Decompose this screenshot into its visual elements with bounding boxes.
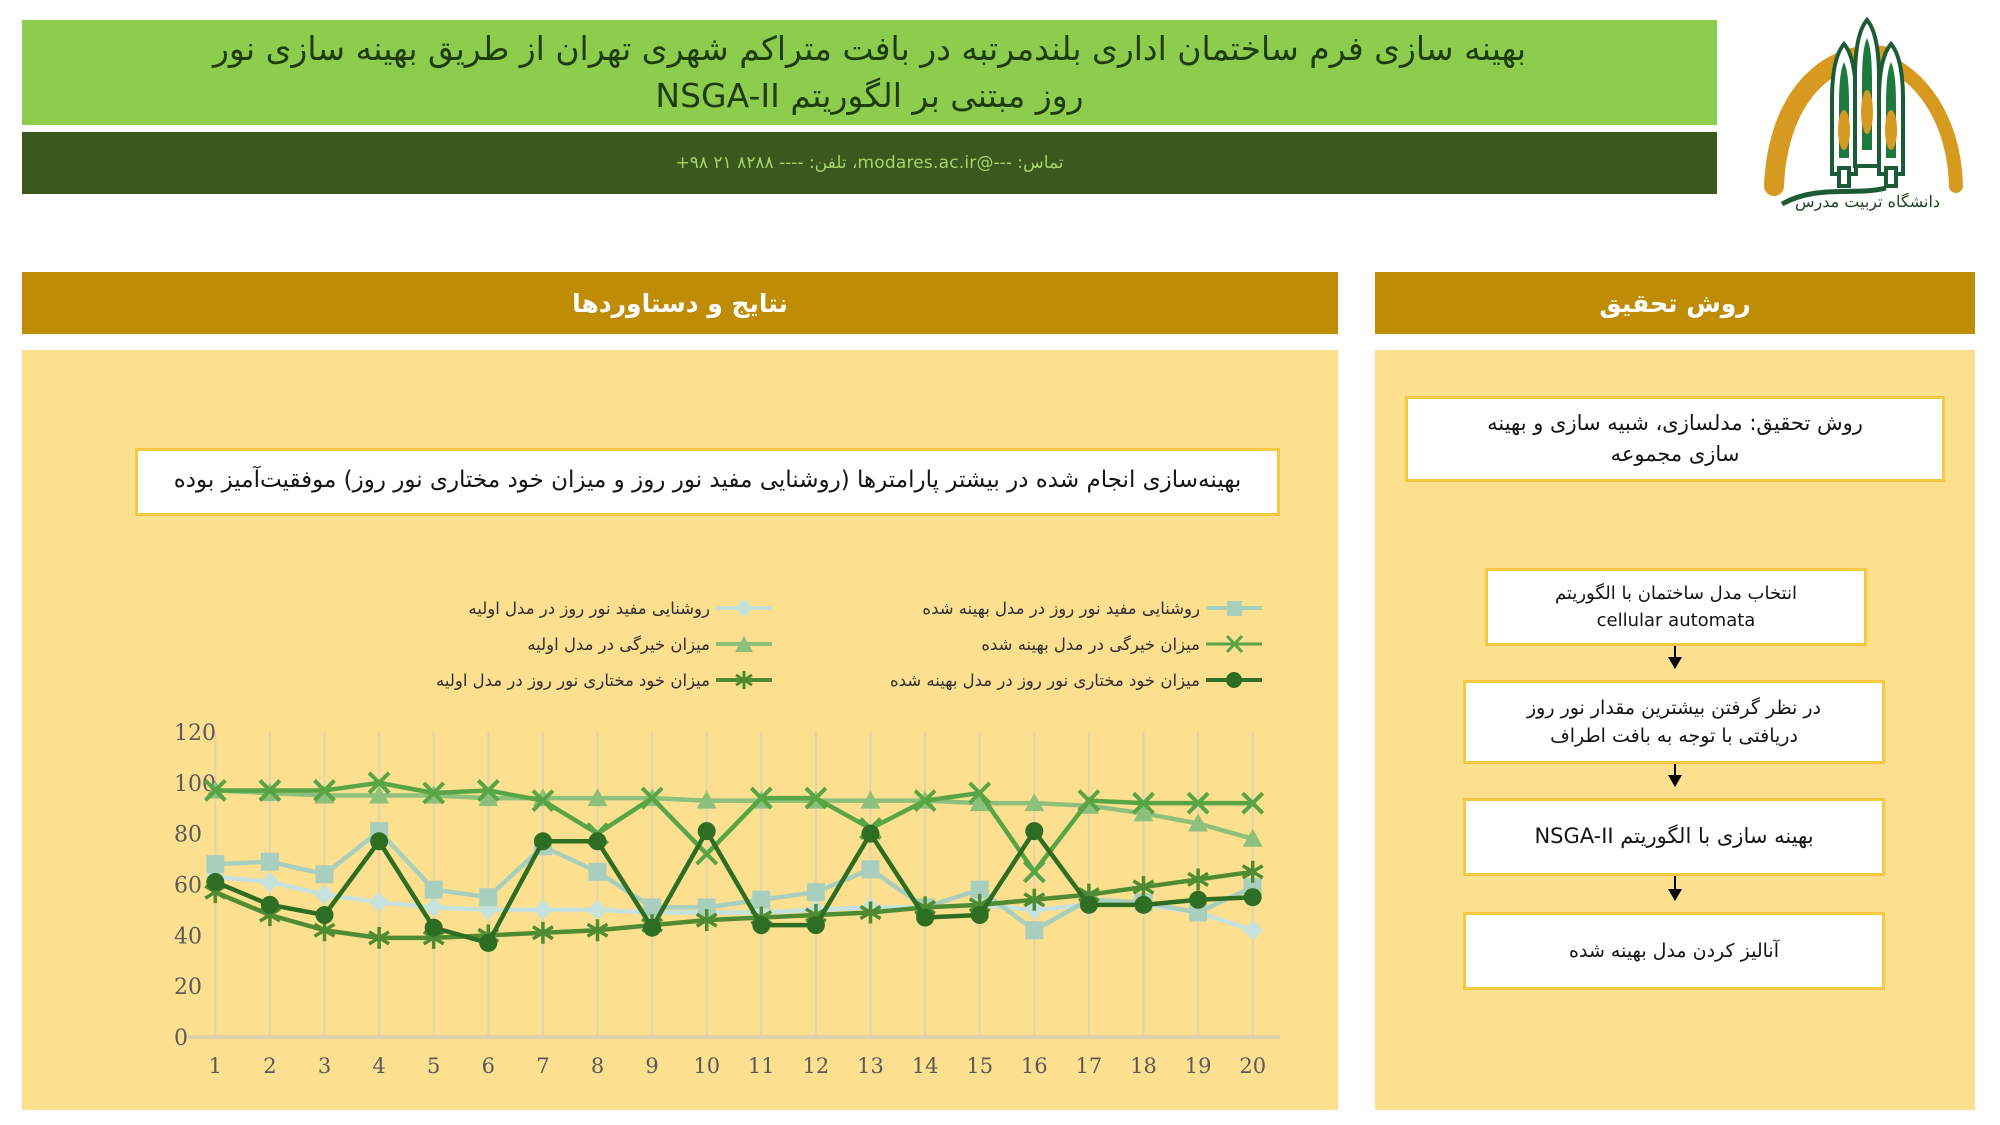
- circle-marker-icon: [1206, 669, 1262, 691]
- university-logo: دانشگاه تربیت مدرس: [1760, 8, 1975, 213]
- chart-ytick-label: 20: [174, 975, 202, 1000]
- method-step-4-box: آنالیز کردن مدل بهینه شده: [1463, 912, 1885, 990]
- legend-item-autonomy-initial: میزان خود مختاری نور روز در مدل اولیه: [302, 662, 772, 698]
- chart-plot-svg: 0204060801001201234567891011121314151617…: [112, 720, 1302, 1095]
- chart-xtick-label: 5: [427, 1054, 440, 1078]
- chart-xtick-label: 1: [209, 1054, 222, 1078]
- daylight-chart: روشنایی مفید نور روز در مدل بهینه شده می…: [112, 590, 1302, 1095]
- section-header-results: نتایج و دستاوردها: [22, 272, 1338, 334]
- chart-xtick-label: 6: [482, 1054, 495, 1078]
- legend-item-glare-initial: میزان خیرگی در مدل اولیه: [302, 626, 772, 662]
- results-callout-box: بهینه‌سازی انجام شده در بیشتر پارامترها …: [135, 448, 1280, 516]
- method-step-2-text: در نظر گرفتن بیشترین مقدار نور روز دریاف…: [1527, 694, 1821, 751]
- contact-info: تماس: ---@modares.ac.ir، تلفن: ---- ۸۲۸۸…: [675, 153, 1063, 173]
- chart-series: [205, 780, 1262, 846]
- method-step-2-box: در نظر گرفتن بیشترین مقدار نور روز دریاف…: [1463, 680, 1885, 764]
- chart-legend-column-initial: روشنایی مفید نور روز در مدل اولیه میزان …: [302, 590, 772, 698]
- chart-xtick-label: 7: [536, 1054, 549, 1078]
- flow-arrow-3-icon: [1674, 876, 1676, 900]
- legend-label-3: میزان خیرگی در مدل اولیه: [527, 635, 710, 654]
- results-callout-text: بهینه‌سازی انجام شده در بیشتر پارامترها …: [174, 463, 1242, 499]
- method-step-3-text: بهینه سازی با الگوریتم NSGA-II: [1534, 821, 1813, 853]
- chart-legend-column-optimized: روشنایی مفید نور روز در مدل بهینه شده می…: [792, 590, 1262, 698]
- method-panel: روش تحقیق: مدلسازی، شبیه سازی و بهینه سا…: [1375, 350, 1975, 1110]
- legend-label-1: روشنایی مفید نور روز در مدل اولیه: [468, 599, 710, 618]
- chart-xtick-label: 9: [645, 1054, 658, 1078]
- flow-arrow-1-icon: [1674, 646, 1676, 668]
- contact-band: تماس: ---@modares.ac.ir، تلفن: ---- ۸۲۸۸…: [22, 132, 1717, 194]
- method-step-1-box: انتخاب مدل ساختمان با الگوریتم cellular …: [1485, 568, 1867, 646]
- method-step-1-text: انتخاب مدل ساختمان با الگوریتم cellular …: [1555, 580, 1797, 634]
- chart-ytick-label: 60: [174, 874, 202, 899]
- method-intro-box: روش تحقیق: مدلسازی، شبیه سازی و بهینه سا…: [1405, 396, 1945, 482]
- chart-plot-area: 0204060801001201234567891011121314151617…: [112, 720, 1302, 1095]
- triangle-marker-icon: [716, 633, 772, 655]
- results-panel: بهینه‌سازی انجام شده در بیشتر پارامترها …: [22, 350, 1338, 1110]
- legend-item-autonomy-optimized: میزان خود مختاری نور روز در مدل بهینه شد…: [792, 662, 1262, 698]
- legend-label-5: میزان خود مختاری نور روز در مدل اولیه: [436, 671, 710, 690]
- legend-item-uselessdaylight-optimized: روشنایی مفید نور روز در مدل بهینه شده: [792, 590, 1262, 626]
- method-step-3-box: بهینه سازی با الگوریتم NSGA-II: [1463, 798, 1885, 876]
- chart-xtick-label: 18: [1130, 1054, 1157, 1078]
- asterisk-marker-icon: [716, 669, 772, 691]
- chart-xtick-label: 14: [912, 1054, 939, 1078]
- chart-xtick-label: 12: [803, 1054, 830, 1078]
- section-header-method-label: روش تحقیق: [1599, 289, 1750, 318]
- section-header-method: روش تحقیق: [1375, 272, 1975, 334]
- section-header-results-label: نتایج و دستاوردها: [572, 289, 788, 318]
- cross-marker-icon: [1206, 633, 1262, 655]
- logo-caption: دانشگاه تربیت مدرس: [1760, 192, 1975, 211]
- chart-xtick-label: 13: [857, 1054, 884, 1078]
- university-logo-icon: [1760, 8, 1975, 213]
- legend-item-glare-optimized: میزان خیرگی در مدل بهینه شده: [792, 626, 1262, 662]
- chart-xtick-label: 4: [372, 1054, 385, 1078]
- chart-xtick-label: 15: [966, 1054, 993, 1078]
- square-marker-icon: [1206, 597, 1262, 619]
- chart-xtick-label: 20: [1239, 1054, 1266, 1078]
- chart-ytick-label: 0: [174, 1026, 188, 1051]
- poster-title: بهینه سازی فرم ساختمان اداری بلندمرتبه د…: [213, 26, 1526, 120]
- chart-xtick-label: 19: [1185, 1054, 1212, 1078]
- chart-xtick-label: 16: [1021, 1054, 1048, 1078]
- method-intro-text: روش تحقیق: مدلسازی، شبیه سازی و بهینه سا…: [1487, 408, 1863, 471]
- chart-xtick-label: 17: [1076, 1054, 1103, 1078]
- chart-ytick-label: 80: [174, 823, 202, 848]
- chart-xtick-label: 3: [318, 1054, 331, 1078]
- chart-ytick-label: 120: [174, 721, 216, 746]
- legend-item-usefuldaylight-initial: روشنایی مفید نور روز در مدل اولیه: [302, 590, 772, 626]
- flow-arrow-2-icon: [1674, 764, 1676, 786]
- chart-xtick-label: 11: [748, 1054, 775, 1078]
- chart-legend: روشنایی مفید نور روز در مدل بهینه شده می…: [262, 590, 1262, 710]
- chart-xtick-label: 2: [263, 1054, 276, 1078]
- chart-xtick-label: 8: [591, 1054, 604, 1078]
- legend-label-4: میزان خود مختاری نور روز در مدل بهینه شد…: [890, 671, 1200, 690]
- legend-label-2: میزان خیرگی در مدل بهینه شده: [981, 635, 1200, 654]
- poster-title-band: بهینه سازی فرم ساختمان اداری بلندمرتبه د…: [22, 20, 1717, 125]
- chart-ytick-label: 40: [174, 924, 202, 949]
- legend-label-0: روشنایی مفید نور روز در مدل بهینه شده: [922, 599, 1200, 618]
- poster-root: بهینه سازی فرم ساختمان اداری بلندمرتبه د…: [0, 0, 2000, 1125]
- diamond-marker-icon: [716, 597, 772, 619]
- chart-xtick-label: 10: [693, 1054, 720, 1078]
- method-step-4-text: آنالیز کردن مدل بهینه شده: [1569, 937, 1779, 966]
